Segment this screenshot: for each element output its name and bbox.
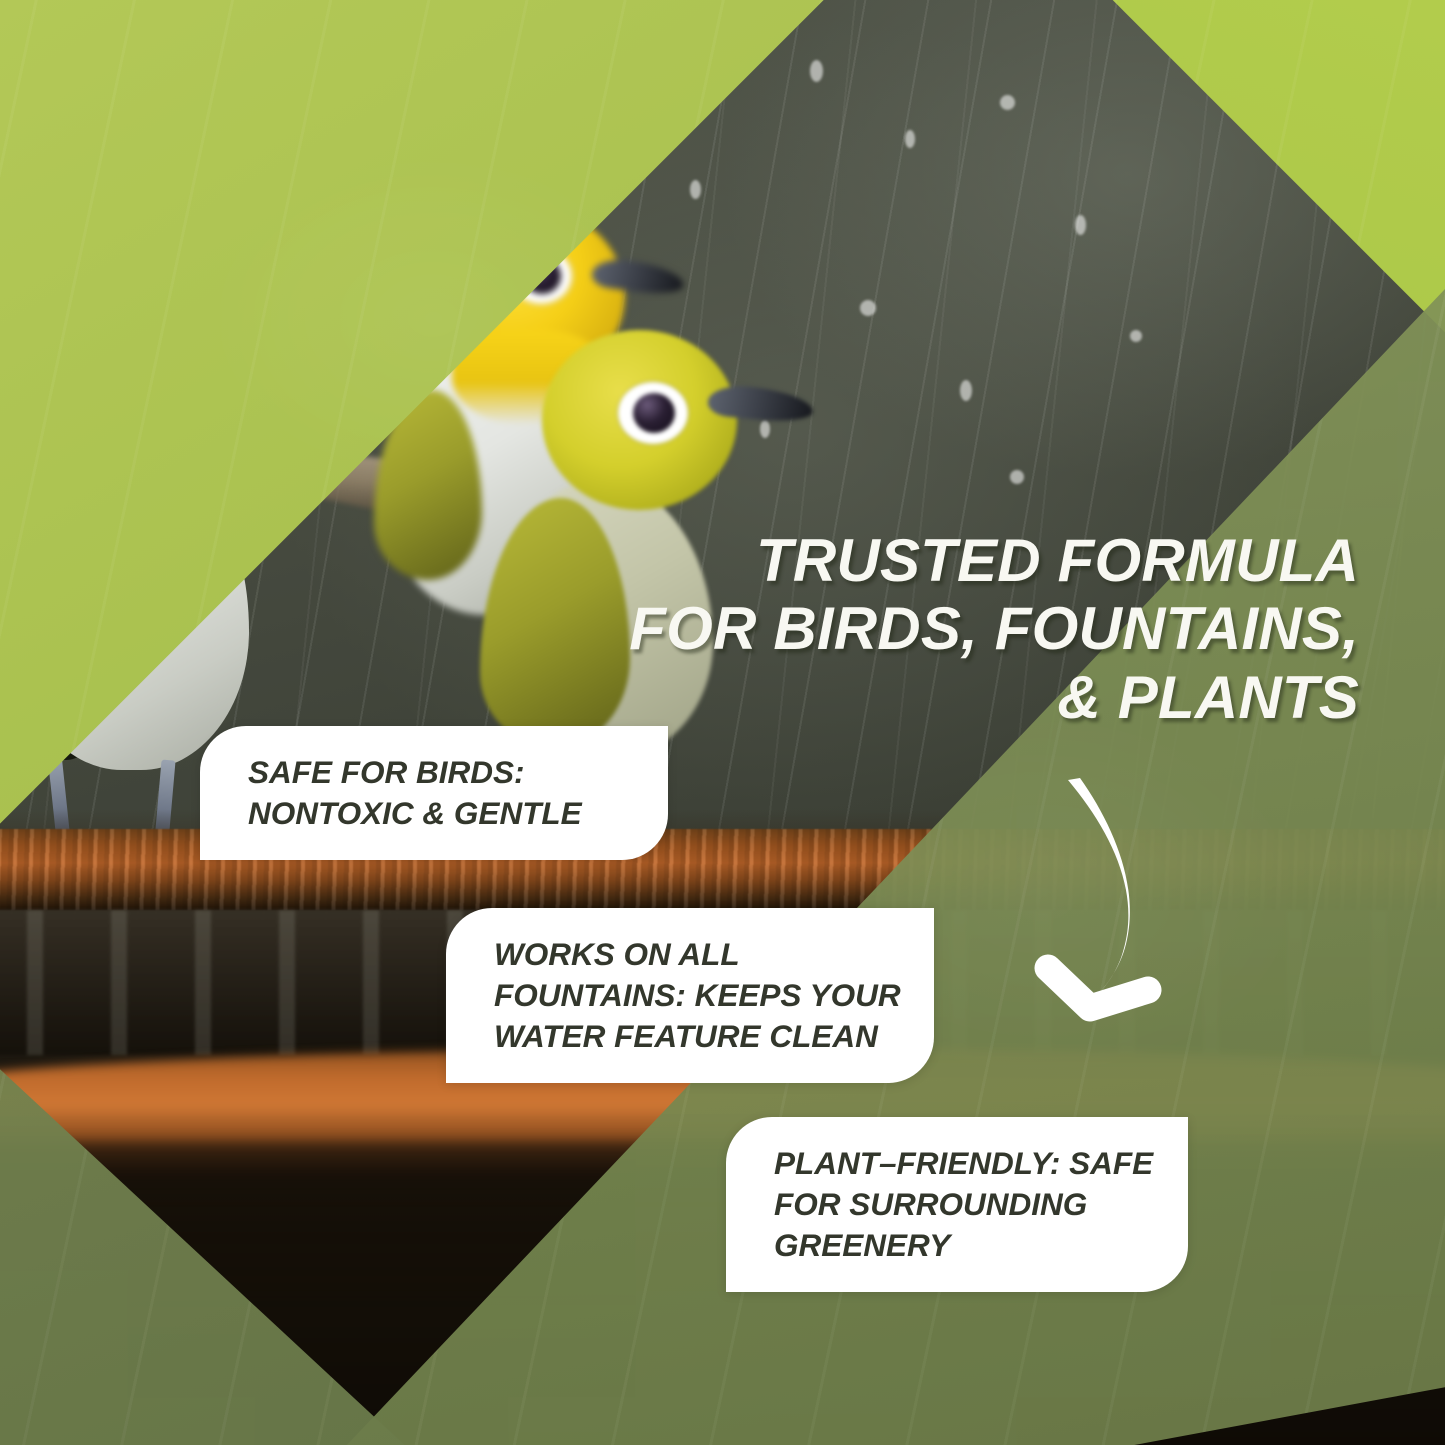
feature-line: FOR SURROUNDING [774, 1184, 1154, 1225]
headline: TRUSTED FORMULA FOR BIRDS, FOUNTAINS, & … [619, 527, 1359, 732]
curved-down-arrow-icon [1028, 772, 1228, 1034]
feature-card-plant-friendly: PLANT–FRIENDLY: SAFE FOR SURROUNDING GRE… [726, 1117, 1188, 1292]
feature-line: WATER FEATURE CLEAN [494, 1016, 900, 1057]
headline-line-1: TRUSTED FORMULA [619, 527, 1359, 595]
feature-line: SAFE FOR BIRDS: [248, 752, 634, 793]
feature-line: NONTOXIC & GENTLE [248, 793, 634, 834]
feature-line: PLANT–FRIENDLY: SAFE [774, 1143, 1154, 1184]
feature-line: GREENERY [774, 1225, 1154, 1266]
infographic-poster: TRUSTED FORMULA FOR BIRDS, FOUNTAINS, & … [0, 0, 1445, 1445]
headline-line-2: FOR BIRDS, FOUNTAINS, [619, 595, 1359, 663]
headline-line-3: & PLANTS [619, 664, 1359, 732]
feature-card-safe-for-birds: SAFE FOR BIRDS: NONTOXIC & GENTLE [200, 726, 668, 860]
feature-card-works-on-all-fountains: WORKS ON ALL FOUNTAINS: KEEPS YOUR WATER… [446, 908, 934, 1083]
feature-line: FOUNTAINS: KEEPS YOUR [494, 975, 900, 1016]
feature-line: WORKS ON ALL [494, 934, 900, 975]
